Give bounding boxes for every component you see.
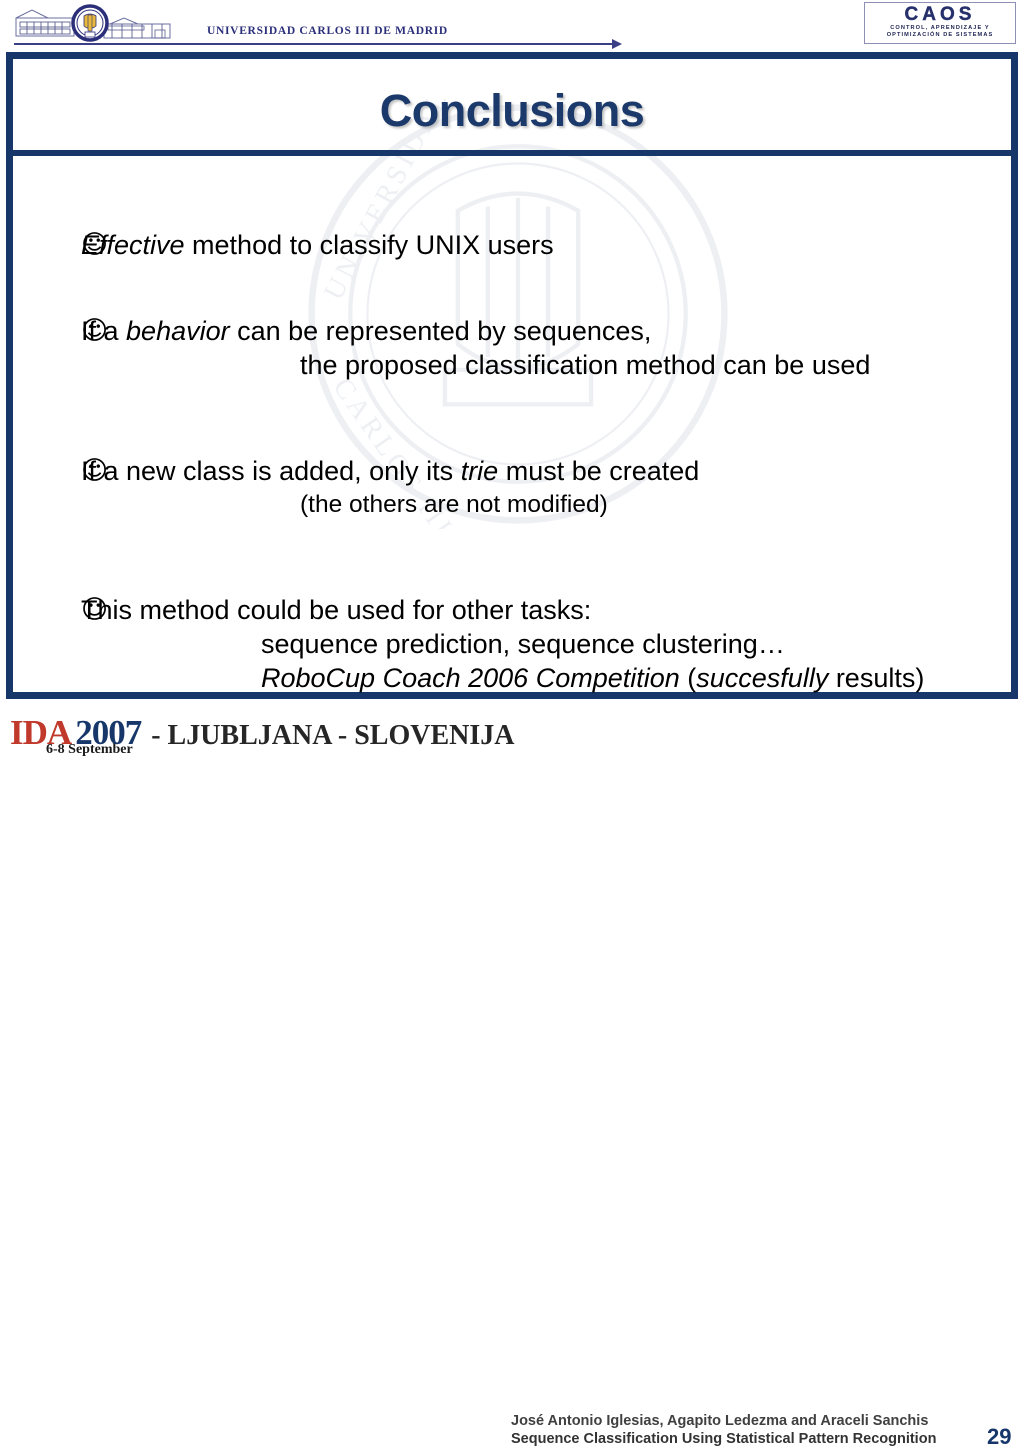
bullet-text: If a behavior can be represented by sequ… <box>81 314 651 348</box>
slide-footer: IDA2007- LJUBLJANA - SLOVENIJA 6-8 Septe… <box>0 701 1024 768</box>
plain-text: can be represented by sequences, <box>230 316 652 346</box>
caos-acronym: CAOS <box>865 5 1015 25</box>
page-title: Conclusions <box>13 85 1011 137</box>
plain-text: If a new class is added, only its <box>81 456 461 486</box>
plain-text: must be created <box>498 456 699 486</box>
plain-text: ( <box>680 663 697 693</box>
bullet-text: If a new class is added, only its trie m… <box>81 454 699 488</box>
conference-location: - LJUBLJANA - SLOVENIJA <box>151 720 514 751</box>
bullet-subline-text: (the others are not modified) <box>81 488 608 522</box>
plain-text: results) <box>828 663 924 693</box>
header-divider-line <box>14 43 618 45</box>
slide-number: 29 <box>987 1424 1011 1450</box>
emphasis-text: Effective <box>81 230 185 260</box>
conference-date: 6-8 September <box>46 742 133 758</box>
plain-text: sequence prediction, sequence clustering… <box>261 629 785 659</box>
footer-authors: José Antonio Iglesias, Agapito Ledezma a… <box>511 1413 928 1429</box>
plain-text: If a <box>81 316 126 346</box>
bullet-text: This method could be used for other task… <box>81 593 591 627</box>
smiley-bullet-icon: ☺ <box>13 454 81 488</box>
uc3m-logo-icon <box>12 4 202 42</box>
bullet-subline-text: RoboCup Coach 2006 Competition (succesfu… <box>81 661 924 695</box>
smiley-bullet-icon: ☺ <box>13 228 81 262</box>
bullet-line: sequence prediction, sequence clustering… <box>13 627 1011 661</box>
caos-subtitle-line1: CONTROL, APRENDIZAJE Y <box>865 25 1015 32</box>
bullet-line: (the others are not modified) <box>13 488 1011 522</box>
emphasis-text: behavior <box>126 316 230 346</box>
slide-header: UNIVERSIDAD CARLOS III DE MADRID CAOS CO… <box>0 0 1024 52</box>
bullet-item: ☺If a new class is added, only its trie … <box>13 454 1011 522</box>
emphasis-text: RoboCup Coach 2006 Competition <box>261 663 680 693</box>
plain-text: This method could be used for other task… <box>81 595 591 625</box>
plain-text: method to classify UNIX users <box>185 230 554 260</box>
caos-subtitle-line2: OPTIMIZACIÓN DE SISTEMAS <box>865 32 1015 39</box>
bullet-spacer <box>13 661 81 695</box>
bullet-line: ☺If a behavior can be represented by seq… <box>13 314 1011 348</box>
header-arrow-icon <box>612 39 622 49</box>
bullet-spacer <box>13 627 81 661</box>
smiley-bullet-icon: ☺ <box>13 593 81 627</box>
emphasis-text: trie <box>461 456 499 486</box>
bullet-line: ☺This method could be used for other tas… <box>13 593 1011 627</box>
bullet-item: ☺If a behavior can be represented by seq… <box>13 314 1011 382</box>
bullet-line: the proposed classification method can b… <box>13 348 1011 382</box>
bullet-line: ☺Effective method to classify UNIX users <box>13 228 1011 262</box>
plain-text: (the others are not modified) <box>300 491 608 518</box>
bullet-subline-text: sequence prediction, sequence clustering… <box>81 627 785 661</box>
bullet-spacer <box>13 348 81 382</box>
caos-logo: CAOS CONTROL, APRENDIZAJE Y OPTIMIZACIÓN… <box>864 2 1016 44</box>
slide-title-band: Conclusions <box>13 59 1011 156</box>
slide-frame: UNIVERSIDAD CARLOS III Conclusions ☺Effe… <box>6 52 1018 699</box>
bullet-item: ☺Effective method to classify UNIX users <box>13 228 1011 262</box>
slide-body: ☺Effective method to classify UNIX users… <box>13 156 1011 696</box>
bullet-spacer <box>13 488 81 522</box>
bullet-line: ☺If a new class is added, only its trie … <box>13 454 1011 488</box>
bullet-item: ☺This method could be used for other tas… <box>13 593 1011 695</box>
university-name: UNIVERSIDAD CARLOS III DE MADRID <box>207 25 448 37</box>
smiley-bullet-icon: ☺ <box>13 314 81 348</box>
plain-text: the proposed classification method can b… <box>300 350 870 380</box>
bullet-text: Effective method to classify UNIX users <box>81 228 554 262</box>
emphasis-text: succesfully <box>696 663 828 693</box>
footer-paper-title: Sequence Classification Using Statistica… <box>511 1431 936 1447</box>
bullet-subline-text: the proposed classification method can b… <box>81 348 870 382</box>
bullet-line: RoboCup Coach 2006 Competition (succesfu… <box>13 661 1011 695</box>
